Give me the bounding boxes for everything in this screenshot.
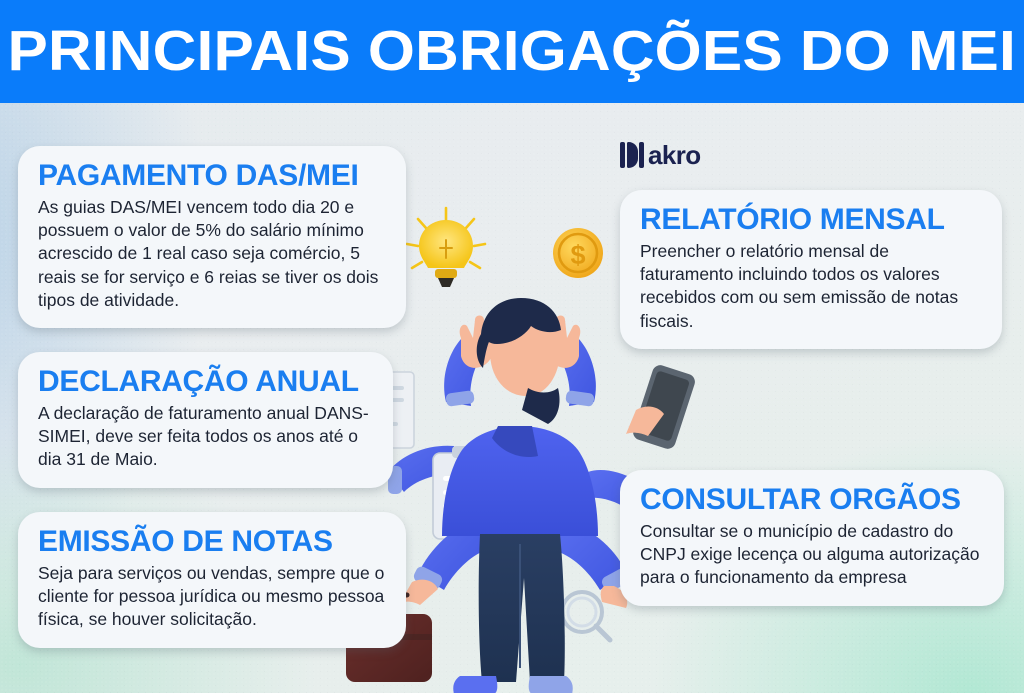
brand-logo-makro: akro: [620, 140, 701, 170]
card-emissao-de-notas: EMISSÃO DE NOTAS Seja para serviços ou v…: [18, 512, 406, 648]
card-title: DECLARAÇÃO ANUAL: [38, 366, 373, 398]
card-title: EMISSÃO DE NOTAS: [38, 526, 386, 558]
smartphone-icon: [631, 363, 697, 451]
card-title: PAGAMENTO DAS/MEI: [38, 160, 386, 192]
card-body: A declaração de faturamento anual DANS-S…: [38, 402, 373, 472]
brand-name: akro: [648, 142, 701, 168]
card-title: RELATÓRIO MENSAL: [640, 204, 982, 236]
svg-text:$: $: [570, 240, 585, 270]
infographic-page: PRINCIPAIS OBRIGAÇÕES DO MEI: [0, 0, 1024, 693]
page-title: PRINCIPAIS OBRIGAÇÕES DO MEI: [8, 23, 1017, 80]
header-banner: PRINCIPAIS OBRIGAÇÕES DO MEI: [0, 0, 1024, 103]
card-title: CONSULTAR ORGÃOS: [640, 484, 984, 516]
card-pagamento-das-mei: PAGAMENTO DAS/MEI As guias DAS/MEI vence…: [18, 146, 406, 328]
card-consultar-orgaos: CONSULTAR ORGÃOS Consultar se o municípi…: [620, 470, 1004, 606]
card-body: As guias DAS/MEI vencem todo dia 20 e po…: [38, 196, 386, 312]
card-body: Seja para serviços ou vendas, sempre que…: [38, 562, 386, 632]
legs: [479, 534, 565, 682]
dollar-coin-icon: $: [553, 228, 603, 278]
head: [477, 298, 561, 424]
lightbulb-icon: [407, 208, 485, 287]
card-body: Preencher o relatório mensal de faturame…: [640, 240, 982, 333]
makro-logo-mark: [620, 140, 646, 170]
card-body: Consultar se o município de cadastro do …: [640, 520, 984, 590]
card-declaracao-anual: DECLARAÇÃO ANUAL A declaração de faturam…: [18, 352, 393, 488]
card-relatorio-mensal: RELATÓRIO MENSAL Preencher o relatório m…: [620, 190, 1002, 349]
